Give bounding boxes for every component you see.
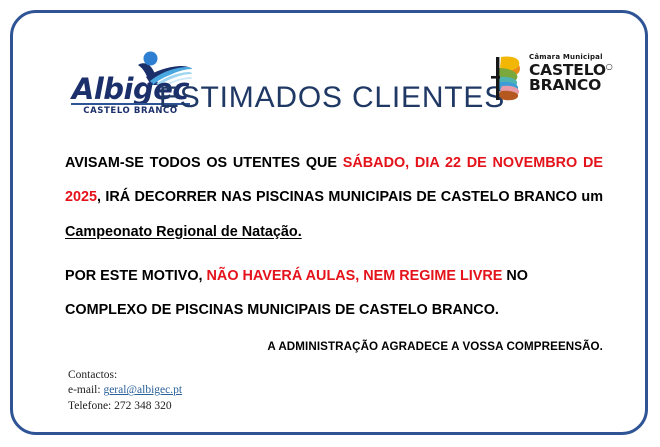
contacts-heading: Contactos: — [68, 368, 182, 383]
run-text: , IRÁ DECORRER NAS PISCINAS MUNICIPAIS D… — [97, 189, 603, 205]
contacts-email-link[interactable]: geral@albigec.pt — [103, 384, 182, 396]
notice-body: AVISAM-SE TODOS OS UTENTES QUE SÁBADO, D… — [65, 146, 603, 327]
contacts-phone: Telefone: 272 348 320 — [68, 399, 182, 414]
notice-paragraph-2: POR ESTE MOTIVO, NÃO HAVERÁ AULAS, NEM R… — [65, 259, 603, 328]
notice-paragraph-1: AVISAM-SE TODOS OS UTENTES QUE SÁBADO, D… — [65, 146, 603, 249]
municipality-kicker: Câmara Municipal — [529, 54, 607, 61]
closing-statement: A ADMINISTRAÇÃO AGRADECE A VOSSA COMPREE… — [65, 340, 607, 353]
notice-card: Albigec CASTELO BRANCO ESTIMADOS CLIENTE… — [10, 10, 648, 435]
run-text: AVISAM-SE TODOS OS UTENTES QUE — [65, 155, 343, 171]
castelo-branco-b-icon — [491, 55, 525, 101]
run-highlight-cancellation: NÃO HAVERÁ AULAS, NEM REGIME LIVRE — [207, 268, 503, 284]
contacts-email-label: e-mail: — [68, 384, 103, 396]
municipality-superscript: ○ — [606, 62, 613, 71]
run-text: POR ESTE MOTIVO, — [65, 268, 207, 284]
castelo-branco-municipality-logo: Câmara Municipal CASTELO○ BRANCO — [485, 51, 605, 105]
contacts-block: Contactos: e-mail: geral@albigec.pt Tele… — [68, 368, 182, 414]
municipality-name-line2: BRANCO — [529, 78, 607, 93]
contacts-email-line: e-mail: geral@albigec.pt — [68, 383, 182, 398]
municipality-logo-text: Câmara Municipal CASTELO○ BRANCO — [529, 54, 607, 94]
notice-header: Albigec CASTELO BRANCO ESTIMADOS CLIENTE… — [13, 13, 645, 121]
run-underline-event: Campeonato Regional de Natação. — [65, 224, 302, 240]
